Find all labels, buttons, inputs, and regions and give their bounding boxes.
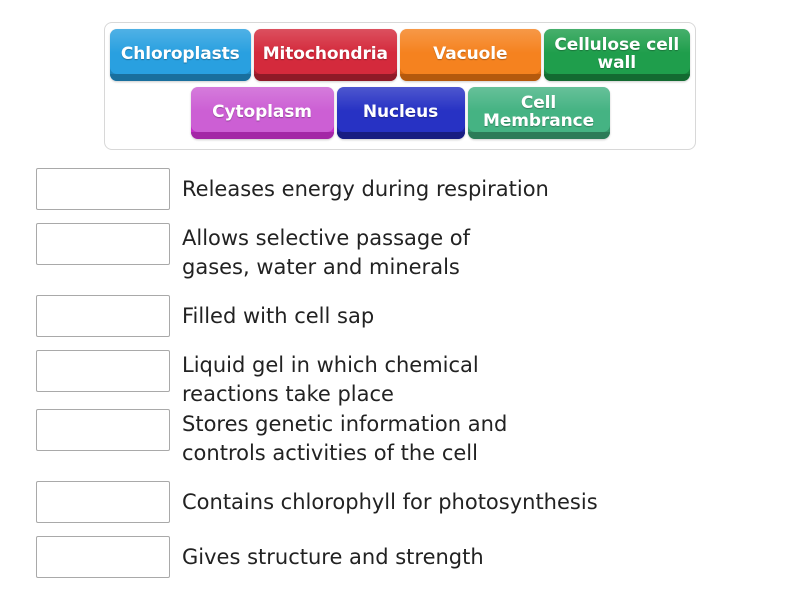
tile-label-vacuole: Vacuole bbox=[433, 46, 507, 64]
definition-text: Stores genetic information and controls … bbox=[182, 409, 776, 468]
definition-text: Liquid gel in which chemical reactions t… bbox=[182, 350, 776, 409]
definition-text: Allows selective passage of gases, water… bbox=[182, 223, 776, 282]
definition-text: Releases energy during respiration bbox=[182, 168, 776, 204]
tile-label-cell-membrance: Cell Membrance bbox=[477, 95, 601, 130]
tile-label-cytoplasm: Cytoplasm bbox=[212, 104, 312, 122]
answer-row: Contains chlorophyll for photosynthesis bbox=[36, 481, 776, 523]
tile-row-1: Chloroplasts Mitochondria Vacuole Cellul… bbox=[110, 29, 690, 81]
answer-row: Stores genetic information and controls … bbox=[36, 409, 776, 468]
drop-zone-1[interactable] bbox=[36, 168, 170, 210]
drop-zone-6[interactable] bbox=[36, 481, 170, 523]
answer-row: Allows selective passage of gases, water… bbox=[36, 223, 776, 282]
drop-zone-7[interactable] bbox=[36, 536, 170, 578]
draggable-tile-tray: Chloroplasts Mitochondria Vacuole Cellul… bbox=[104, 22, 696, 150]
drop-zone-5[interactable] bbox=[36, 409, 170, 451]
answer-row: Filled with cell sap bbox=[36, 295, 776, 337]
definition-text: Filled with cell sap bbox=[182, 295, 776, 331]
tile-label-cellulose-cell-wall: Cellulose cell wall bbox=[553, 37, 681, 72]
tile-vacuole[interactable]: Vacuole bbox=[400, 29, 541, 81]
tile-label-chloroplasts: Chloroplasts bbox=[121, 46, 240, 64]
tile-nucleus[interactable]: Nucleus bbox=[337, 87, 465, 139]
drop-zone-3[interactable] bbox=[36, 295, 170, 337]
tile-label-mitochondria: Mitochondria bbox=[263, 46, 388, 64]
answer-list: Releases energy during respiration Allow… bbox=[36, 168, 776, 581]
tile-chloroplasts[interactable]: Chloroplasts bbox=[110, 29, 251, 81]
answer-row: Liquid gel in which chemical reactions t… bbox=[36, 350, 776, 409]
tile-cellulose-cell-wall[interactable]: Cellulose cell wall bbox=[544, 29, 690, 81]
drop-zone-2[interactable] bbox=[36, 223, 170, 265]
answer-row: Releases energy during respiration bbox=[36, 168, 776, 210]
answer-row: Gives structure and strength bbox=[36, 536, 776, 578]
tile-label-nucleus: Nucleus bbox=[363, 104, 438, 122]
tile-cell-membrance[interactable]: Cell Membrance bbox=[468, 87, 610, 139]
definition-text: Gives structure and strength bbox=[182, 536, 776, 572]
tile-mitochondria[interactable]: Mitochondria bbox=[254, 29, 397, 81]
tile-cytoplasm[interactable]: Cytoplasm bbox=[191, 87, 334, 139]
tile-row-2: Cytoplasm Nucleus Cell Membrance bbox=[110, 87, 690, 139]
definition-text: Contains chlorophyll for photosynthesis bbox=[182, 481, 776, 517]
drop-zone-4[interactable] bbox=[36, 350, 170, 392]
